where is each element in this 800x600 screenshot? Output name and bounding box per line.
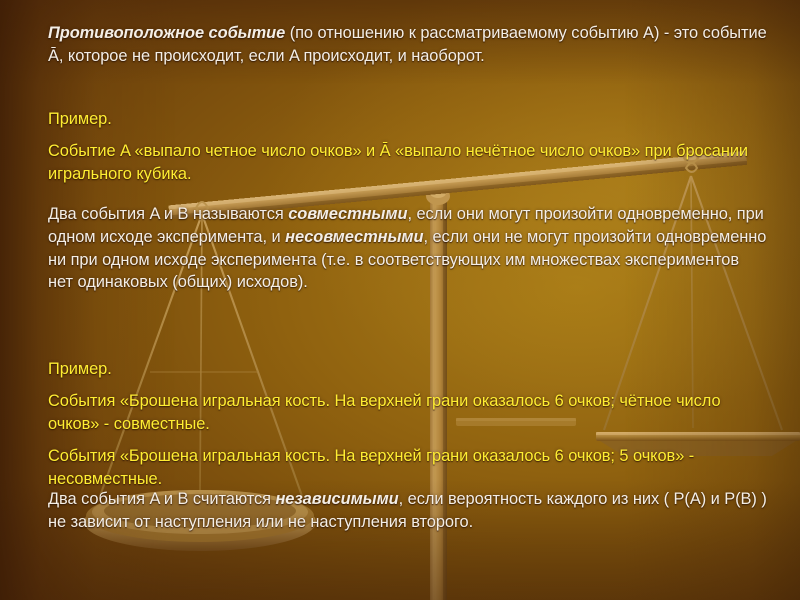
term-compatible: совместными	[288, 205, 407, 223]
example-body-1: Событие A «выпало четное число очков» и …	[48, 140, 768, 186]
example-heading-2: Пример.	[48, 358, 768, 381]
example-body-2: События «Брошена игральная кость. На вер…	[48, 390, 768, 436]
example-heading-1: Пример.	[48, 108, 768, 131]
independent-part-1: Два события A и B считаются	[48, 490, 275, 508]
term-independent: независимыми	[275, 490, 398, 508]
term-incompatible: несовместными	[285, 228, 423, 246]
slide-canvas: Противоположное событие (по отношению к …	[0, 0, 800, 600]
term-opposite-event: Противоположное событие	[48, 24, 285, 42]
slide-text-layer: Противоположное событие (по отношению к …	[0, 0, 800, 600]
paragraph-independent-events: Два события A и B считаются независимыми…	[48, 488, 768, 534]
paragraph-opposite-event: Противоположное событие (по отношению к …	[48, 22, 768, 68]
paragraph-compatible-events: Два события A и B называются совместными…	[48, 203, 768, 294]
compatible-part-1: Два события A и B называются	[48, 205, 288, 223]
example-body-3: События «Брошена игральная кость. На вер…	[48, 445, 768, 491]
